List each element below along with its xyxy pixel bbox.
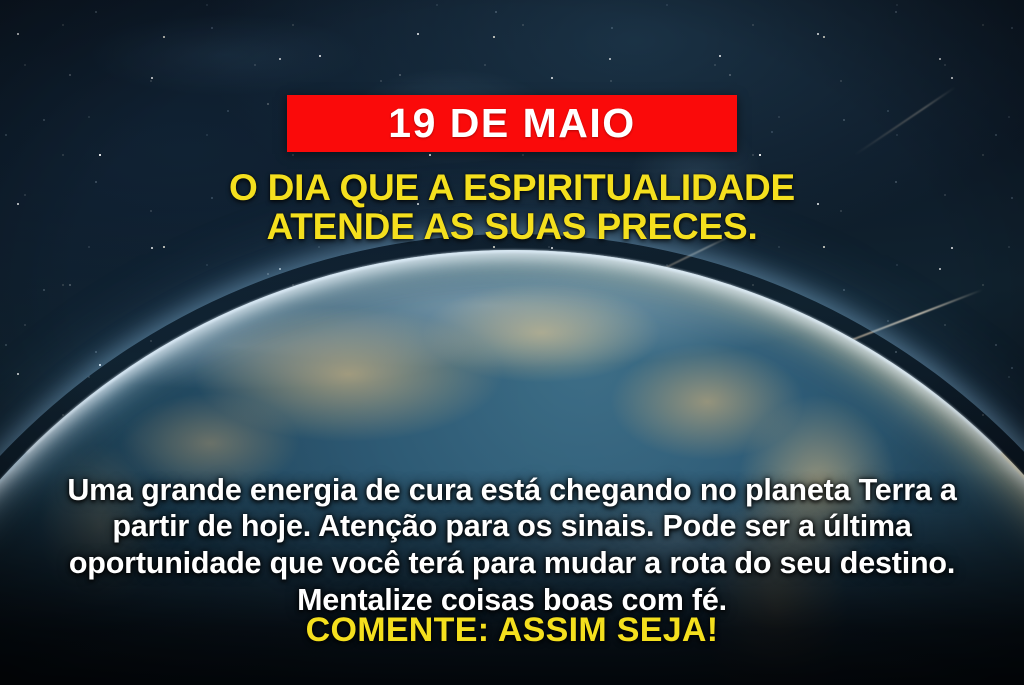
- poster-content: 19 DE MAIO O DIA QUE A ESPIRITUALIDADE A…: [0, 0, 1024, 685]
- date-badge: 19 DE MAIO: [287, 95, 737, 152]
- body-paragraph: Uma grande energia de cura está chegando…: [62, 472, 962, 620]
- poster-canvas: 19 DE MAIO O DIA QUE A ESPIRITUALIDADE A…: [0, 0, 1024, 685]
- call-to-action-label: COMENTE: ASSIM SEJA!: [306, 613, 719, 647]
- date-badge-label: 19 DE MAIO: [388, 103, 635, 144]
- page-title: O DIA QUE A ESPIRITUALIDADE ATENDE AS SU…: [229, 168, 795, 246]
